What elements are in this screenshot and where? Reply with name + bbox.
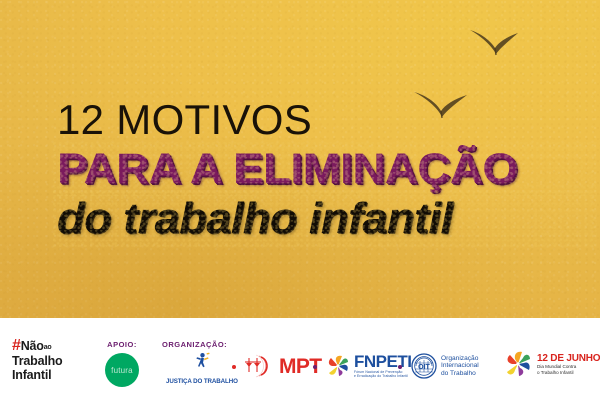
logo-doze-de-junho: 12 DE JUNHO Dia Mundial Contra o Trabalh…: [503, 350, 600, 378]
headline-line-3: do trabalho infantil: [57, 194, 593, 244]
oit-label-line-2: Internacional: [441, 362, 479, 370]
futura-label: futura: [111, 366, 133, 375]
pinwheel-icon: [325, 354, 351, 378]
ilo-seal-icon: OIT: [411, 353, 437, 379]
apoio-section: APOIO: futura: [92, 340, 152, 387]
headline-line-2-text: PARA A ELIMINAÇÃO: [57, 145, 517, 193]
pinwheel-icon: [503, 350, 533, 378]
oit-label-line-1: Organização: [441, 355, 479, 363]
doze-de-junho-subtitle-2: o Trabalho Infantil: [537, 370, 600, 376]
hashtag-icon: #: [12, 337, 21, 354]
futura-logo: futura: [105, 353, 139, 387]
campaign-logo-line-1: #Nãoao: [12, 339, 63, 354]
dot-separator-icon: [398, 365, 402, 369]
campaign-logo-nao-trabalho-infantil: #Nãoao Trabalho Infantil: [12, 339, 63, 382]
campaign-logo-line-3: Infantil: [12, 368, 63, 382]
poster-root: 12 MOTIVOS PARA A ELIMINAÇÃO do trabalho…: [0, 0, 600, 400]
headline-line-1: 12 MOTIVOS: [57, 98, 577, 142]
running-figure-icon: [191, 352, 213, 372]
headline-line-3-text: do trabalho infantil: [57, 194, 453, 243]
logo-justica-do-trabalho: JUSTIÇA DO TRABALHO: [166, 352, 238, 385]
svg-text:OIT: OIT: [418, 364, 430, 371]
doze-de-junho-title: 12 DE JUNHO: [537, 353, 600, 364]
fnpeti-label: FNPETI: [354, 354, 411, 370]
dot-separator-icon: [313, 365, 317, 369]
dot-separator-icon: [232, 365, 236, 369]
headline-block: 12 MOTIVOS PARA A ELIMINAÇÃO do trabalho…: [57, 98, 577, 244]
organizacao-kicker: ORGANIZAÇÃO:: [162, 340, 227, 349]
logo-mpt: MPT: [243, 354, 322, 378]
fnpeti-subtitle-2: e Erradicação do Trabalho Infantil: [354, 374, 411, 378]
oit-label-line-3: do Trabalho: [441, 370, 479, 378]
hero-background: 12 MOTIVOS PARA A ELIMINAÇÃO do trabalho…: [0, 0, 600, 318]
campaign-logo-nao: Não: [21, 339, 44, 353]
headline-line-2: PARA A ELIMINAÇÃO: [57, 146, 600, 192]
bird-icon: [468, 28, 524, 58]
logo-oit: OIT Organização Internacional do Trabalh…: [411, 353, 479, 379]
campaign-logo-line-2: Trabalho: [12, 354, 63, 368]
mpt-symbol-icon: [243, 354, 277, 378]
justica-do-trabalho-label: JUSTIÇA DO TRABALHO: [166, 378, 238, 385]
apoio-kicker: APOIO:: [92, 340, 152, 349]
campaign-logo-ao: ao: [44, 344, 52, 351]
